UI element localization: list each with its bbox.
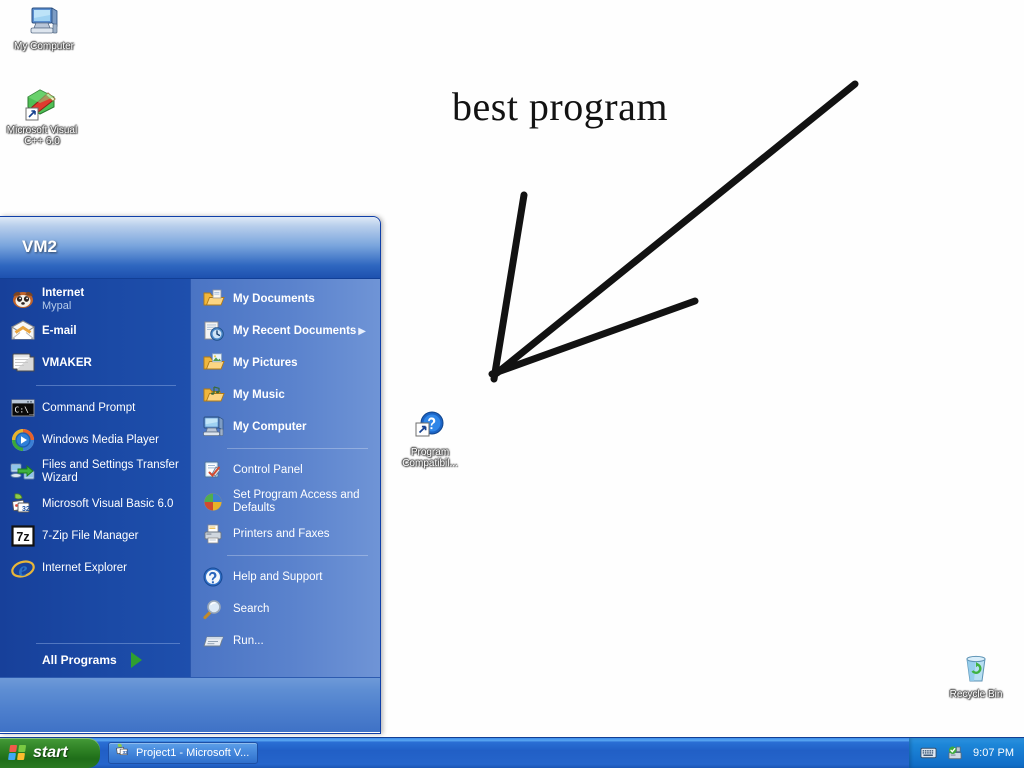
my-music-folder-icon — [199, 382, 229, 408]
desktop-icon-program-compatibility[interactable]: Program Compatibil... — [392, 410, 468, 469]
svg-text:e: e — [19, 559, 28, 580]
start-menu-item-run[interactable]: Run... — [191, 625, 380, 657]
start-menu-left-column: Internet Mypal E-mail — [0, 279, 190, 677]
start-menu-item-label: Control Panel — [233, 464, 303, 477]
start-menu-item-label: My Computer — [233, 421, 306, 434]
chevron-right-icon — [131, 652, 142, 668]
my-computer-icon — [6, 4, 82, 38]
start-menu-item-label: Internet Mypal — [42, 287, 84, 312]
desktop-icon-recycle-bin[interactable]: Recycle Bin — [938, 652, 1014, 700]
email-envelope-icon — [8, 318, 38, 344]
start-menu-item-7zip-file-manager[interactable]: 7z 7-Zip File Manager — [0, 520, 190, 552]
program-compatibility-wizard-shortcut-icon — [392, 410, 468, 444]
help-and-support-icon — [199, 564, 229, 590]
desktop-icon-label: Microsoft Visual C++ 6.0 — [4, 125, 80, 147]
all-programs-button[interactable]: All Programs — [0, 643, 190, 677]
run-dialog-icon — [199, 628, 229, 654]
keyboard-layout-icon[interactable] — [920, 746, 937, 760]
printers-and-faxes-icon — [199, 521, 229, 547]
start-menu-item-my-recent-documents[interactable]: My Recent Documents ▶ — [191, 315, 380, 347]
start-menu-item-label: My Recent Documents — [233, 325, 356, 338]
start-menu-body: Internet Mypal E-mail — [0, 279, 380, 677]
task-button-project1[interactable]: 32 Project1 - Microsoft V... — [108, 742, 258, 764]
start-button[interactable]: start — [0, 738, 100, 768]
windows-logo-icon — [8, 745, 27, 761]
start-menu-item-set-program-access[interactable]: Set Program Access and Defaults — [191, 486, 380, 518]
chevron-right-icon: ▶ — [358, 326, 372, 337]
start-button-label: start — [33, 744, 68, 762]
start-menu-separator — [36, 385, 176, 386]
start-menu-item-label: Microsoft Visual Basic 6.0 — [42, 498, 173, 511]
start-menu-item-my-documents[interactable]: My Documents — [191, 283, 380, 315]
start-menu-item-label: Windows Media Player — [42, 434, 159, 447]
visual-basic-icon: 32 — [8, 491, 38, 517]
taskbar[interactable]: start 32 Project1 - Microsoft V... — [0, 737, 1024, 768]
mypal-browser-icon — [8, 286, 38, 312]
start-menu-item-internet[interactable]: Internet Mypal — [0, 283, 190, 315]
task-button-list: 32 Project1 - Microsoft V... — [108, 742, 909, 764]
start-menu[interactable]: VM2 — [0, 216, 381, 734]
svg-text:32: 32 — [123, 750, 129, 755]
start-menu-item-label: Help and Support — [233, 571, 323, 584]
system-tray: 9:07 PM — [909, 738, 1024, 768]
start-menu-right-column: My Documents My Recent Doc — [190, 279, 380, 677]
windows-media-player-icon — [8, 427, 38, 453]
desktop-icon-label: Recycle Bin — [938, 689, 1014, 700]
my-pictures-folder-icon — [199, 350, 229, 376]
start-menu-item-email[interactable]: E-mail — [0, 315, 190, 347]
start-menu-item-files-settings-transfer-wizard[interactable]: Files and Settings Transfer Wizard — [0, 456, 190, 488]
vmaker-window-icon — [8, 350, 38, 376]
start-menu-item-label: My Pictures — [233, 357, 298, 370]
start-menu-item-vmaker[interactable]: VMAKER — [0, 347, 190, 379]
seven-zip-icon: 7z — [8, 523, 38, 549]
safely-remove-hardware-icon[interactable] — [947, 746, 964, 761]
start-menu-item-label: Set Program Access and Defaults — [233, 489, 372, 515]
start-menu-item-help-and-support[interactable]: Help and Support — [191, 561, 380, 593]
annotation-text: best program — [452, 83, 668, 130]
start-menu-item-label: VMAKER — [42, 357, 92, 370]
start-menu-item-my-computer[interactable]: My Computer — [191, 411, 380, 443]
start-menu-item-sublabel: Mypal — [42, 300, 84, 312]
user-name: VM2 — [22, 237, 57, 257]
start-menu-item-label: Files and Settings Transfer Wizard — [42, 459, 182, 485]
start-menu-item-internet-explorer[interactable]: e Internet Explorer — [0, 552, 190, 584]
start-menu-footer — [0, 677, 380, 732]
control-panel-icon — [199, 457, 229, 483]
start-menu-item-label: Command Prompt — [42, 402, 135, 415]
start-menu-item-printers-and-faxes[interactable]: Printers and Faxes — [191, 518, 380, 550]
start-menu-item-windows-media-player[interactable]: Windows Media Player — [0, 424, 190, 456]
svg-text:C:\_: C:\_ — [15, 406, 34, 415]
start-menu-item-label: Internet Explorer — [42, 562, 127, 575]
command-prompt-icon: C:\_ — [8, 395, 38, 421]
start-menu-item-label: My Music — [233, 389, 285, 402]
start-menu-item-label: 7-Zip File Manager — [42, 530, 139, 543]
desktop-icon-visual-cpp[interactable]: Microsoft Visual C++ 6.0 — [4, 88, 80, 147]
desktop-icon-label: My Computer — [6, 41, 82, 52]
search-magnifier-icon — [199, 596, 229, 622]
start-menu-item-search[interactable]: Search — [191, 593, 380, 625]
my-documents-folder-icon — [199, 286, 229, 312]
start-menu-item-label: My Documents — [233, 293, 315, 306]
my-recent-documents-icon — [199, 318, 229, 344]
clock[interactable]: 9:07 PM — [973, 747, 1014, 759]
svg-text:7z: 7z — [16, 530, 29, 544]
start-menu-item-label: Search — [233, 603, 269, 616]
internet-explorer-icon: e — [8, 555, 38, 581]
start-menu-item-command-prompt[interactable]: C:\_ Command Prompt — [0, 392, 190, 424]
desktop-icon-label: Program Compatibil... — [392, 447, 468, 469]
start-menu-item-control-panel[interactable]: Control Panel — [191, 454, 380, 486]
recycle-bin-icon — [938, 652, 1014, 686]
start-menu-separator — [227, 555, 368, 556]
start-menu-item-visual-basic[interactable]: 32 Microsoft Visual Basic 6.0 — [0, 488, 190, 520]
my-computer-icon — [199, 414, 229, 440]
desktop-icon-my-computer[interactable]: My Computer — [6, 4, 82, 52]
all-programs-label: All Programs — [42, 653, 117, 667]
start-menu-header: VM2 — [0, 217, 380, 279]
visual-basic-taskbar-icon: 32 — [115, 743, 130, 763]
start-menu-item-my-music[interactable]: My Music — [191, 379, 380, 411]
start-menu-separator — [227, 448, 368, 449]
all-programs-separator — [36, 643, 180, 644]
svg-text:32: 32 — [22, 506, 30, 513]
start-menu-item-label: Printers and Faxes — [233, 528, 330, 541]
files-settings-transfer-wizard-icon — [8, 459, 38, 485]
visual-cpp-shortcut-icon — [4, 88, 80, 122]
set-program-access-icon — [199, 489, 229, 515]
start-menu-item-my-pictures[interactable]: My Pictures — [191, 347, 380, 379]
start-menu-item-label: Run... — [233, 635, 264, 648]
task-button-label: Project1 - Microsoft V... — [136, 747, 249, 759]
start-menu-item-label: E-mail — [42, 325, 77, 338]
